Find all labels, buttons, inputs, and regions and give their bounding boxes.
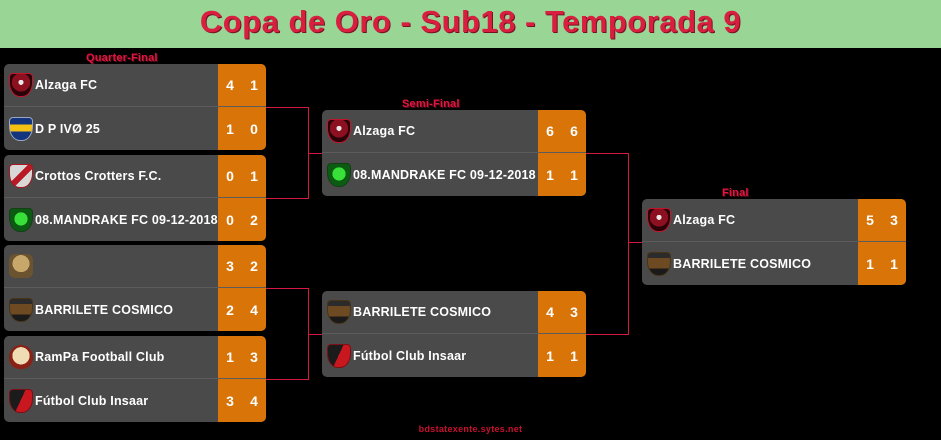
score-leg-2: 1 [882,256,906,272]
bracket-connector [308,153,322,154]
team-row[interactable]: Alzaga FC53 [642,199,906,242]
score-cell: 02 [218,198,266,241]
bracket-connector [628,242,642,243]
score-cell: 10 [218,107,266,150]
team-row[interactable]: BARRILETE COSMICO43 [322,291,586,334]
team-row[interactable]: 32 [4,245,266,288]
score-leg-1: 4 [218,77,242,93]
team-crest-icon [326,118,352,144]
match-quarter-final-2[interactable]: Crottos Crotters F.C.0108.MANDRAKE FC 09… [4,155,266,241]
bracket-connector [266,379,308,380]
team-row[interactable]: Fútbol Club Insaar11 [322,334,586,377]
score-leg-1: 5 [858,212,882,228]
match-quarter-final-3[interactable]: 32BARRILETE COSMICO24 [4,245,266,331]
score-leg-1: 1 [218,121,242,137]
match-quarter-final-4[interactable]: RamPa Football Club13Fútbol Club Insaar3… [4,336,266,422]
score-cell: 41 [218,64,266,106]
score-leg-1: 1 [538,348,562,364]
team-row[interactable]: BARRILETE COSMICO24 [4,288,266,331]
team-crest-icon [8,72,34,98]
score-leg-2: 1 [242,168,266,184]
team-row[interactable]: Alzaga FC66 [322,110,586,153]
score-leg-2: 2 [242,258,266,274]
team-crest-icon [8,297,34,323]
score-cell: 24 [218,288,266,331]
match-quarter-final-1[interactable]: Alzaga FC41D P IVØ 2510 [4,64,266,150]
score-leg-1: 3 [218,258,242,274]
score-cell: 11 [538,334,586,377]
team-row[interactable]: D P IVØ 2510 [4,107,266,150]
score-cell: 11 [858,242,906,285]
match-semi-final-2[interactable]: BARRILETE COSMICO43Fútbol Club Insaar11 [322,291,586,377]
score-cell: 11 [538,153,586,196]
team-crest-icon [8,116,34,142]
score-cell: 01 [218,155,266,197]
team-crest-icon [646,251,672,277]
team-crest-icon [8,163,34,189]
bracket-connector [628,153,629,335]
score-leg-2: 4 [242,302,266,318]
page-title: Copa de Oro - Sub18 - Temporada 9 [0,4,941,40]
team-crest-icon [326,162,352,188]
score-leg-1: 1 [538,167,562,183]
score-cell: 32 [218,245,266,287]
team-row[interactable]: 08.MANDRAKE FC 09-12-201802 [4,198,266,241]
bracket-connector [266,107,308,108]
team-row[interactable]: Fútbol Club Insaar34 [4,379,266,422]
team-row[interactable]: BARRILETE COSMICO11 [642,242,906,285]
team-crest-icon [8,207,34,233]
score-leg-1: 0 [218,168,242,184]
score-leg-1: 1 [858,256,882,272]
score-leg-2: 3 [562,304,586,320]
team-crest-icon [8,344,34,370]
match-semi-final-1[interactable]: Alzaga FC6608.MANDRAKE FC 09-12-201811 [322,110,586,196]
bracket-connector [586,334,628,335]
score-leg-2: 6 [562,123,586,139]
score-cell: 66 [538,110,586,152]
score-leg-2: 1 [242,77,266,93]
score-cell: 13 [218,336,266,378]
bracket-connector [308,334,322,335]
score-leg-1: 1 [218,349,242,365]
score-leg-1: 3 [218,393,242,409]
team-row[interactable]: 08.MANDRAKE FC 09-12-201811 [322,153,586,196]
team-crest-icon [326,343,352,369]
score-leg-1: 4 [538,304,562,320]
score-cell: 53 [858,199,906,241]
score-cell: 43 [538,291,586,333]
score-leg-2: 3 [242,349,266,365]
score-cell: 34 [218,379,266,422]
bracket-connector [266,288,308,289]
match-final-1[interactable]: Alzaga FC53BARRILETE COSMICO11 [642,199,906,285]
score-leg-2: 2 [242,212,266,228]
team-row[interactable]: RamPa Football Club13 [4,336,266,379]
round-label-final: Final [722,187,749,199]
team-crest-icon [8,253,34,279]
team-crest-icon [8,388,34,414]
score-leg-2: 0 [242,121,266,137]
team-row[interactable]: Crottos Crotters F.C.01 [4,155,266,198]
bracket-connector [266,198,308,199]
footer-watermark: bdstatexente.sytes.net [0,424,941,434]
bracket-connector [586,153,628,154]
score-leg-2: 1 [562,167,586,183]
score-leg-1: 6 [538,123,562,139]
team-row[interactable]: Alzaga FC41 [4,64,266,107]
score-leg-2: 4 [242,393,266,409]
round-label-semi-final: Semi-Final [402,98,460,110]
team-crest-icon [326,299,352,325]
score-leg-2: 3 [882,212,906,228]
team-crest-icon [646,207,672,233]
score-leg-2: 1 [562,348,586,364]
round-label-quarter-final: Quarter-Final [86,52,158,64]
score-leg-1: 0 [218,212,242,228]
score-leg-1: 2 [218,302,242,318]
